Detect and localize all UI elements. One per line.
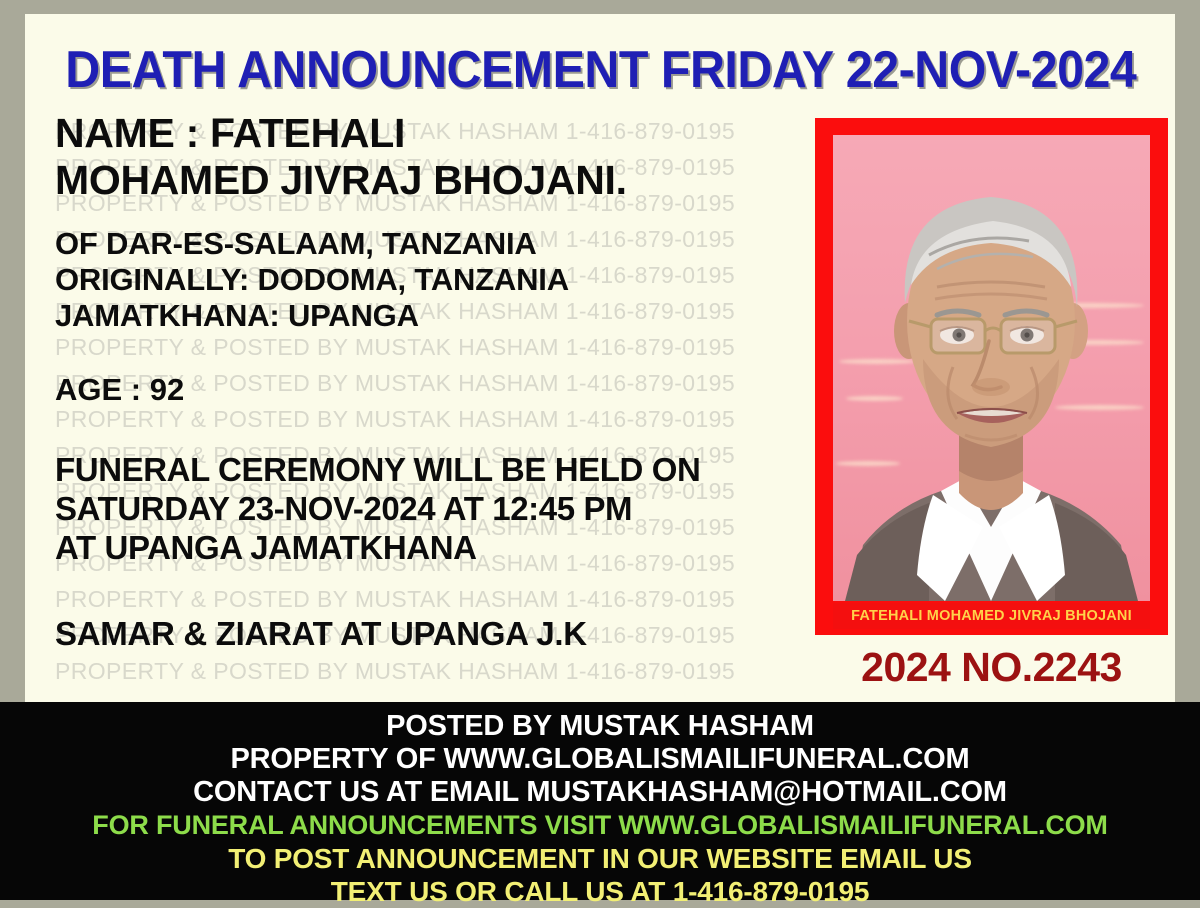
footer-line: TEXT US OR CALL US AT 1-416-879-0195: [0, 875, 1200, 908]
age-block: AGE : 92: [55, 372, 795, 408]
portrait-caption-text: FATEHALI MOHAMED JIVRAJ BHOJANI: [851, 608, 1132, 624]
name-line-2: MOHAMED JIVRAJ BHOJANI.: [55, 157, 795, 204]
portrait-illustration: [833, 135, 1150, 601]
location-line-2: ORIGINALLY: DODOMA, TANZANIA: [55, 262, 795, 298]
watermark-line: PROPERTY & POSTED BY MUSTAK HASHAM 1-416…: [55, 658, 735, 685]
samar-block: SAMAR & ZIARAT AT UPANGA J.K: [55, 614, 795, 653]
portrait-photo: [833, 135, 1150, 601]
footer-line: CONTACT US AT EMAIL MUSTAKHASHAM@HOTMAIL…: [0, 776, 1200, 809]
announcement-card: PROPERTY & POSTED BY MUSTAK HASHAM 1-416…: [25, 14, 1175, 702]
footer-line: TO POST ANNOUNCEMENT IN OUR WEBSITE EMAI…: [0, 842, 1200, 875]
name-line-1: NAME : FATEHALI: [55, 110, 795, 157]
portrait-caption: FATEHALI MOHAMED JIVRAJ BHOJANI: [833, 603, 1150, 629]
funeral-line-1: FUNERAL CEREMONY WILL BE HELD ON: [55, 450, 795, 489]
funeral-line-3: AT UPANGA JAMATKHANA: [55, 528, 795, 567]
funeral-line-2: SATURDAY 23-NOV-2024 AT 12:45 PM: [55, 489, 795, 528]
age-line: AGE : 92: [55, 372, 795, 408]
reference-number: 2024 NO.2243: [815, 644, 1168, 691]
death-announcement-poster: PROPERTY & POSTED BY MUSTAK HASHAM 1-416…: [0, 0, 1200, 900]
funeral-block: FUNERAL CEREMONY WILL BE HELD ON SATURDA…: [55, 450, 795, 567]
page-title: DEATH ANNOUNCEMENT FRIDAY 22-NOV-2024: [65, 44, 1135, 96]
name-block: NAME : FATEHALI MOHAMED JIVRAJ BHOJANI.: [55, 110, 795, 204]
location-block: OF DAR-ES-SALAAM, TANZANIA ORIGINALLY: D…: [55, 226, 795, 334]
announcement-body: NAME : FATEHALI MOHAMED JIVRAJ BHOJANI. …: [55, 110, 795, 653]
footer-lines: POSTED BY MUSTAK HASHAMPROPERTY OF WWW.G…: [0, 702, 1200, 908]
location-line-1: OF DAR-ES-SALAAM, TANZANIA: [55, 226, 795, 262]
samar-line: SAMAR & ZIARAT AT UPANGA J.K: [55, 614, 795, 653]
footer-line: FOR FUNERAL ANNOUNCEMENTS VISIT WWW.GLOB…: [0, 809, 1200, 842]
footer-bar: POSTED BY MUSTAK HASHAMPROPERTY OF WWW.G…: [0, 702, 1200, 900]
portrait-frame: FATEHALI MOHAMED JIVRAJ BHOJANI: [815, 118, 1168, 635]
footer-line: PROPERTY OF WWW.GLOBALISMAILIFUNERAL.COM: [0, 743, 1200, 776]
location-line-3: JAMATKHANA: UPANGA: [55, 298, 795, 334]
footer-line: POSTED BY MUSTAK HASHAM: [0, 710, 1200, 743]
